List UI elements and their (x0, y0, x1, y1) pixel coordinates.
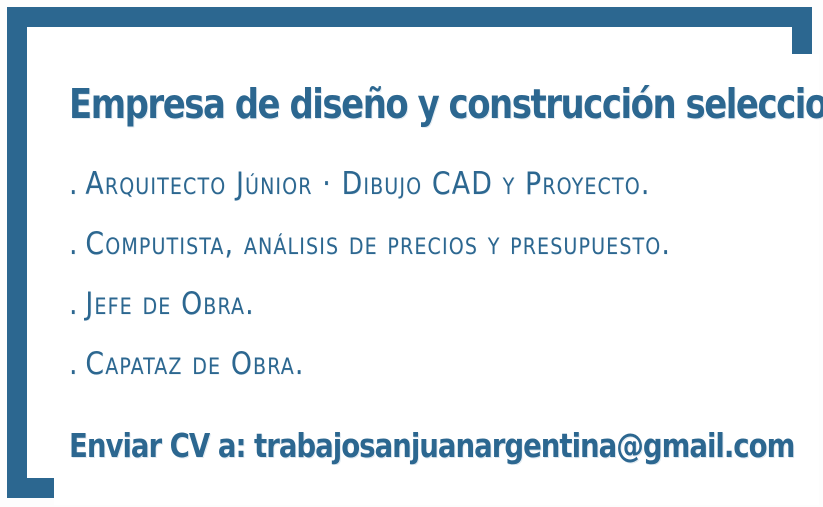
list-item-label: Jefe de Obra. (85, 286, 254, 322)
contact-email-line: Enviar CV a: trabajosanjuanargentina@gma… (69, 427, 762, 465)
list-item: .Computista, análisis de precios y presu… (69, 214, 787, 274)
job-positions-list: .Arquitecto Júnior · Dibujo CAD y Proyec… (69, 154, 817, 394)
list-bullet-icon: . (69, 274, 79, 334)
list-bullet-icon: . (69, 154, 79, 214)
list-item-label: Capataz de Obra. (85, 346, 304, 382)
job-advert-poster: Empresa de diseño y construcción selecci… (0, 0, 823, 507)
list-item-label: Arquitecto Júnior · Dibujo CAD y Proyect… (85, 166, 650, 202)
poster-content-area: Empresa de diseño y construcción selecci… (54, 54, 819, 505)
list-item: .Arquitecto Júnior · Dibujo CAD y Proyec… (69, 154, 787, 214)
list-item-label: Computista, análisis de precios y presup… (85, 226, 671, 262)
page-title: Empresa de diseño y construcción selecci… (69, 81, 754, 127)
list-bullet-icon: . (69, 214, 79, 274)
list-item: .Jefe de Obra. (69, 274, 787, 334)
list-bullet-icon: . (69, 334, 79, 394)
list-item: .Capataz de Obra. (69, 334, 787, 394)
poster-border-frame: Empresa de diseño y construcción selecci… (7, 7, 812, 498)
